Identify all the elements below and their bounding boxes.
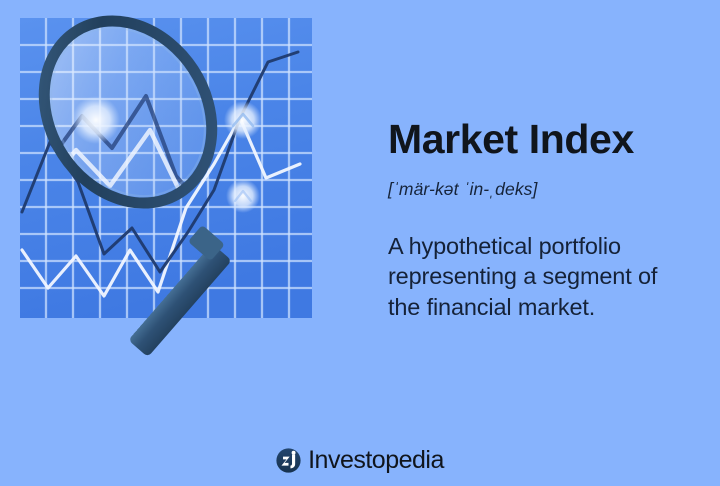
page-title: Market Index <box>388 118 688 161</box>
definition-text: A hypothetical portfolio representing a … <box>388 231 688 323</box>
brand-name: Investopedia <box>308 448 444 473</box>
definition-text-column: Market Index [ˈmär-kət ˈin-ˌdeks] A hypo… <box>388 118 688 322</box>
trend-up-marker-icon <box>224 101 262 139</box>
investopedia-z-mark-icon <box>276 448 301 473</box>
brand-logo: Investopedia <box>0 448 720 473</box>
definition-card: Market Index [ˈmär-kət ˈin-ˌdeks] A hypo… <box>0 0 720 486</box>
pronunciation-text: [ˈmär-kət ˈin-ˌdeks] <box>388 180 688 199</box>
illustration-panel <box>0 0 372 440</box>
data-point-marker-icon <box>226 179 260 213</box>
